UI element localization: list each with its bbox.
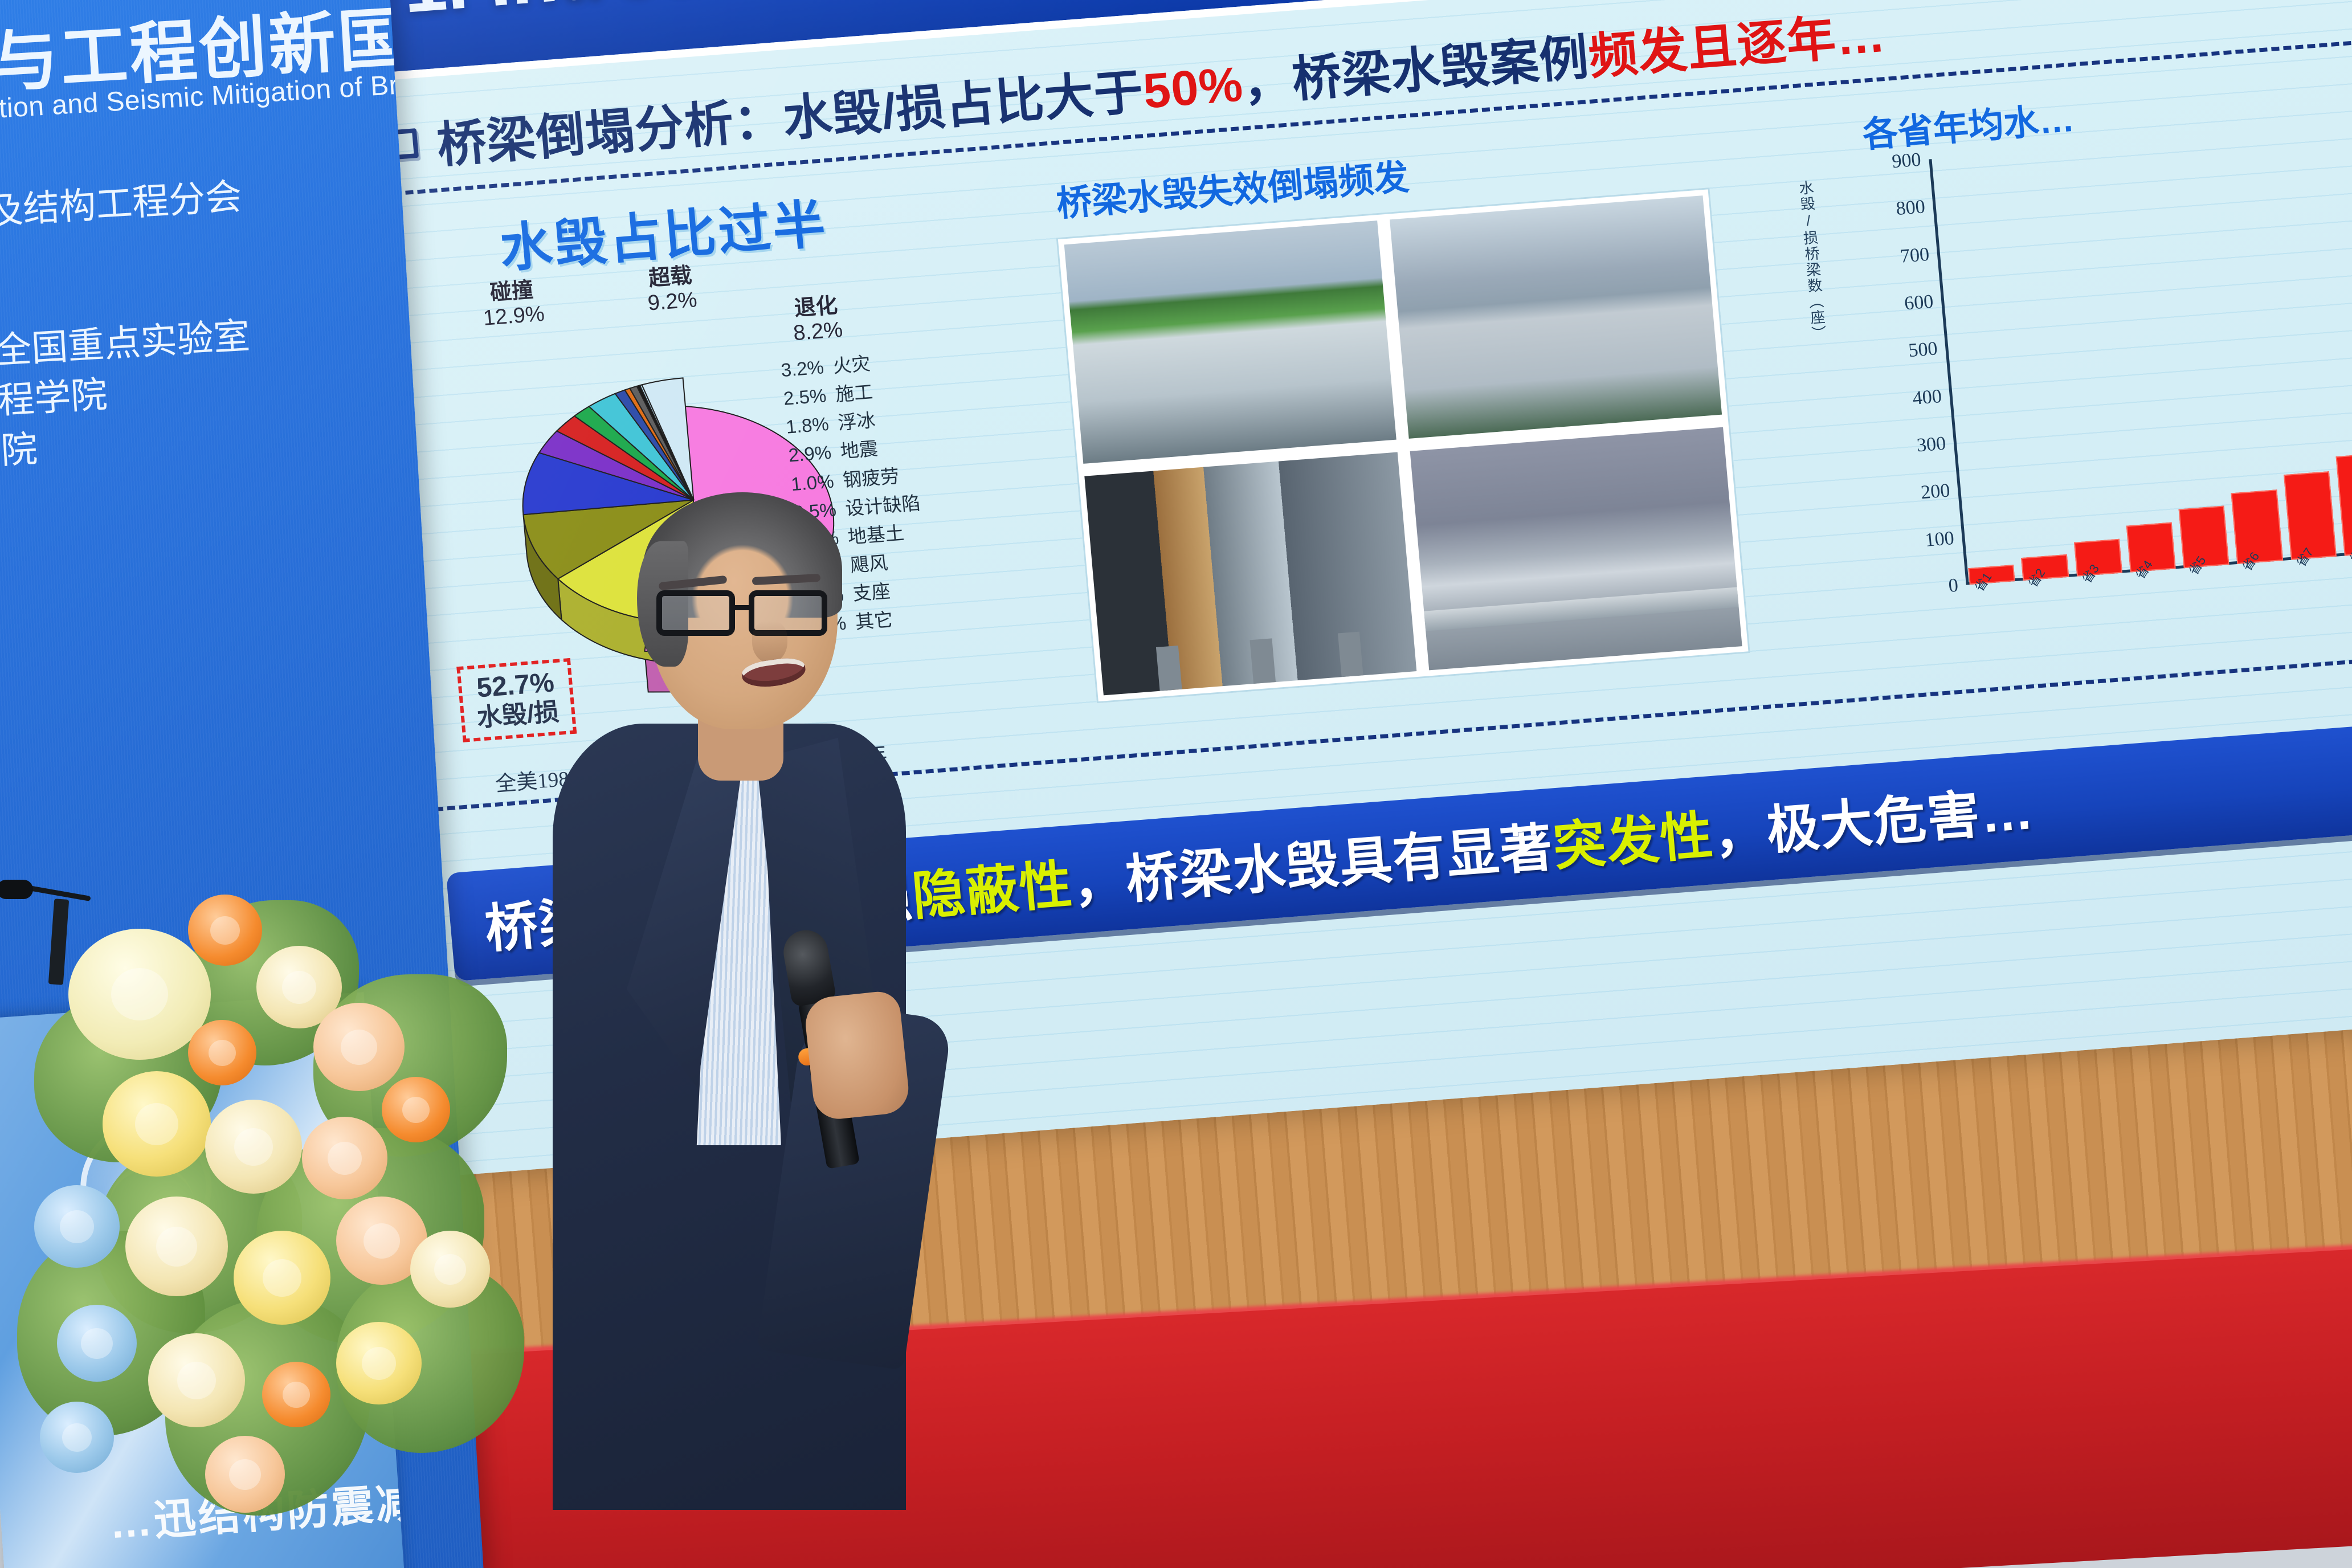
legend-name: 火灾 (832, 353, 871, 377)
bar-ytick: 500 (1908, 338, 1938, 362)
banner-seg-3: ，极大危害… (1711, 781, 2036, 864)
photo-flooded-river-city (1390, 195, 1722, 439)
bar-ytick: 0 (1947, 575, 1959, 597)
bar-ytick: 300 (1916, 433, 1947, 457)
bar-ytick: 700 (1899, 244, 1930, 268)
legend-pct: 2.9% (769, 438, 832, 471)
legend-name: 施工 (835, 381, 874, 405)
speaker-person (541, 479, 952, 1504)
legend-name: 浮冰 (837, 410, 876, 434)
screenshot-root: 1. Introduction to hurricane/flooding ha… (0, 0, 2352, 1568)
speaker-hand (803, 990, 911, 1121)
pie-top-label-collision: 碰撞 12.9% (480, 277, 546, 330)
bar-chart-heading: 各省年均水… (1860, 90, 2076, 157)
backdrop-lab-line-3: 木工程学院 (0, 420, 39, 483)
photo-damaged-pier-closeups (1084, 452, 1416, 696)
banner-highlight-2: 突发性 (1551, 806, 1716, 876)
photo-collapsed-highway-bridge (1410, 427, 1742, 671)
bullet-text-middle: ，桥梁水毁案例 (1240, 30, 1591, 111)
pie-top-label-overload: 超载 9.2% (644, 263, 698, 315)
legend-name: 地震 (839, 438, 879, 462)
pie-top-label-collision-name: 碰撞 (489, 278, 534, 305)
bar-chart-panel: 各省年均水… 水毁/损桥梁数（座） 0100200300400500600700… (1791, 51, 2352, 697)
bullet-highlight-2: 频发且逐年… (1586, 7, 1888, 85)
pie-top-label-overload-name: 超载 (648, 264, 693, 291)
bar-ytick: 900 (1891, 149, 1922, 173)
bullet-highlight-1: 50% (1141, 57, 1246, 119)
photo-grid (1056, 187, 1750, 703)
bar-ytick: 800 (1895, 197, 1926, 220)
backdrop-lab-line-2: 学土木工程学院 (0, 365, 109, 432)
bar-ytick: 200 (1920, 480, 1951, 504)
bar-ytick: 600 (1904, 291, 1934, 315)
photo-panel: 桥梁水毁失效倒塌频发 (1041, 101, 1775, 755)
legend-pct: 1.8% (766, 410, 830, 443)
banner-seg-2: ，桥梁水毁具有显著 (1070, 818, 1555, 913)
bar-ytick: 100 (1924, 528, 1955, 552)
backdrop-lab-line-1: 全与韧性全国重点实验室 (0, 307, 251, 383)
bar-chart-bars (1932, 126, 2352, 585)
backdrop-org-line-1: 学会桥梁及结构工程分会 (0, 168, 243, 244)
eyeglasses-icon (653, 590, 841, 638)
photo-washed-out-embankment (1064, 220, 1396, 464)
bar-chart-axes: 0100200300400500600700800900 省1省2省3省4省5省… (1859, 126, 2352, 590)
legend-pct: 3.2% (761, 353, 825, 386)
speaker-nose (752, 621, 787, 663)
bar-ytick: 400 (1912, 386, 1942, 410)
legend-pct: 2.5% (763, 381, 827, 414)
